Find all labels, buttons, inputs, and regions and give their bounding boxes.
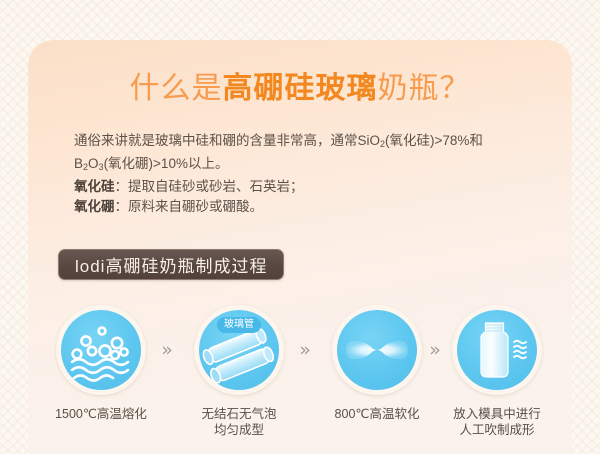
step-caption: 800℃高温软化 [329, 406, 425, 422]
description-line-3: 氧化硅：提取自硅砂或砂岩、石英岩； [74, 177, 544, 197]
title-part-highlight: 高硼硅玻璃 [223, 72, 378, 105]
baby-bottle-icon [457, 310, 537, 390]
chevron-right-icon: » [155, 339, 179, 361]
desc-l2-b: O [88, 156, 99, 171]
glass-tube-label: 玻璃管 [217, 317, 261, 333]
softened-glass-icon [337, 310, 417, 390]
desc-l1-b: (氧化硅)>78%和 [385, 133, 483, 148]
step-caption: 放入模具中进行 人工吹制成形 [449, 406, 545, 438]
desc-l2-a: B [74, 156, 83, 171]
step-icon-circle: 玻璃管 [199, 310, 279, 390]
process-step-melting: 1500℃高温熔化 [53, 305, 149, 422]
step-icon-ring [452, 305, 542, 395]
process-step-glass-tube: 玻璃管 [191, 305, 287, 438]
process-step-softening: 800℃高温软化 [329, 305, 425, 422]
desc-l1-a: 通俗来讲就是玻璃中硅和硼的含量非常高，通常SiO [74, 133, 380, 148]
boron-oxide-desc: ：原料来自硼砂或硼酸。 [115, 199, 264, 214]
content-panel: 什么是高硼硅玻璃奶瓶？ 通俗来讲就是玻璃中硅和硼的含量非常高，通常SiO2(氧化… [28, 40, 572, 454]
description-line-4: 氧化硼：原料来自硼砂或硼酸。 [74, 197, 544, 217]
process-banner-label: lodi高硼硅奶瓶制成过程 [75, 252, 267, 277]
desc-l2-c: (氧化硼)>10%以上。 [104, 156, 229, 171]
step-icon-circle [457, 310, 537, 390]
silica-desc: ：提取自硅砂或砂岩、石英岩； [115, 179, 304, 194]
title-part-suffix: 奶瓶？ [378, 72, 471, 105]
step-caption: 无结石无气泡 均匀成型 [191, 406, 287, 438]
description-line-2: B2O3(氧化硼)>10%以上。 [74, 154, 544, 177]
step-icon-circle [337, 310, 417, 390]
step-icon-ring: 玻璃管 [194, 305, 284, 395]
step-icon-ring [332, 305, 422, 395]
silica-term: 氧化硅 [74, 179, 115, 194]
process-steps: 1500℃高温熔化 玻璃管 [28, 305, 572, 435]
chevron-right-icon: » [293, 339, 317, 361]
boron-oxide-term: 氧化硼 [74, 199, 115, 214]
chevron-right-icon: » [423, 339, 447, 361]
step-icon-ring [56, 305, 146, 395]
step-icon-circle [61, 310, 141, 390]
process-step-blow-molding: 放入模具中进行 人工吹制成形 [449, 305, 545, 438]
step-caption: 1500℃高温熔化 [53, 406, 149, 422]
bubbles-waves-icon [61, 310, 141, 390]
title-part-prefix: 什么是 [130, 72, 223, 105]
page-title: 什么是高硼硅玻璃奶瓶？ [28, 72, 572, 106]
process-banner: lodi高硼硅奶瓶制成过程 [58, 249, 284, 280]
description-text: 通俗来讲就是玻璃中硅和硼的含量非常高，通常SiO2(氧化硅)>78%和 B2O3… [74, 131, 544, 217]
description-line-1: 通俗来讲就是玻璃中硅和硼的含量非常高，通常SiO2(氧化硅)>78%和 [74, 131, 544, 154]
